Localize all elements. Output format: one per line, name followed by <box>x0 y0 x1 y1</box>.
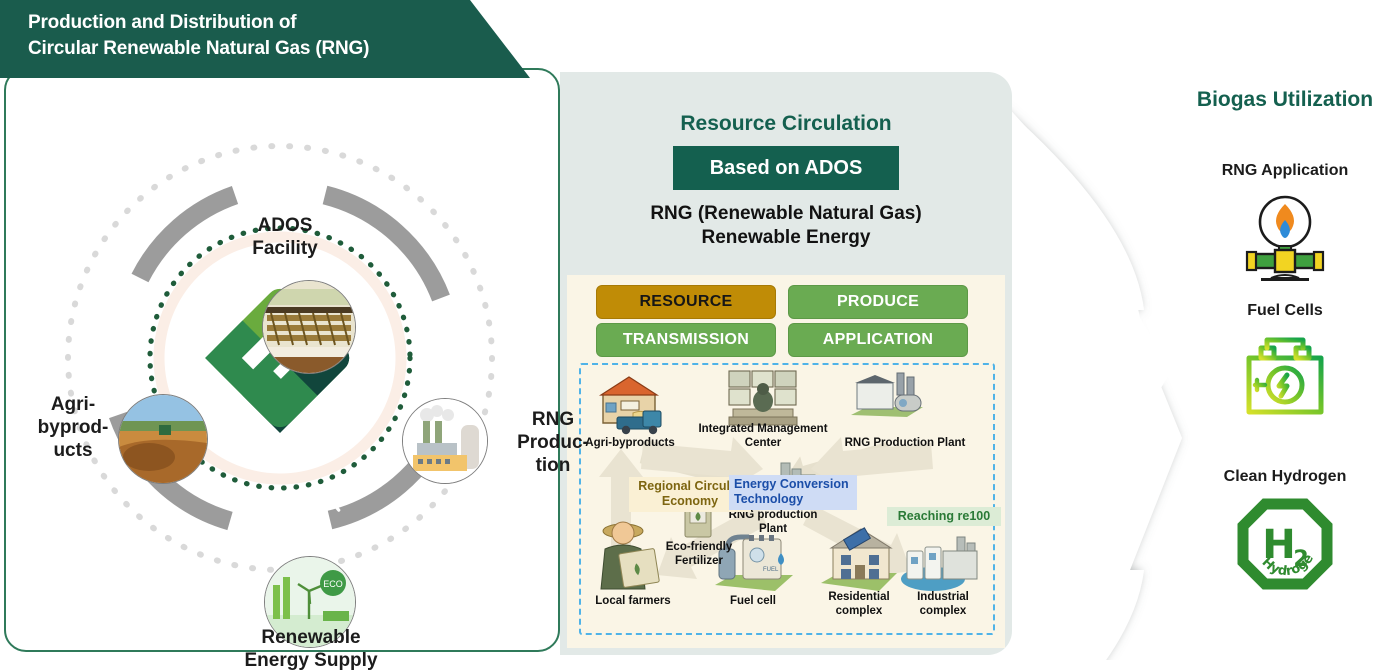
category-produce[interactable]: PRODUCE <box>788 285 968 319</box>
detail-label-rng-production-plant: RNG Production Plant <box>835 437 975 451</box>
svg-text:ECO: ECO <box>323 579 343 589</box>
based-on-ados-badge: Based on ADOS <box>673 146 899 190</box>
house-solar-icon <box>817 521 901 595</box>
rng-plant-factory-icon <box>847 371 927 429</box>
right-item-label-clean-hydrogen: Clean Hydrogen <box>1180 468 1390 486</box>
industry-tanks-icon <box>899 521 985 595</box>
cycle-label-agri: Agri-byprod-ucts <box>30 393 116 463</box>
mid-panel-title: Resource Circulation <box>560 112 1012 136</box>
cycle-node-rng-icon <box>402 398 488 484</box>
biogas-utilization-title: Biogas Utilization <box>1168 88 1400 112</box>
farm-barn-truck-icon <box>591 373 677 435</box>
detail-label-fuel-cell: Fuel cell <box>717 595 789 609</box>
detail-label-eco-fertilizer: Eco-friendlyFertilizer <box>657 541 741 568</box>
biogas-utilization-panel: Biogas Utilization RNG Application Fuel … <box>1180 88 1390 648</box>
svg-text:FUEL: FUEL <box>763 567 779 573</box>
detail-label-industrial-complex: Industrialcomplex <box>901 591 985 618</box>
mid-subtitle-line1: RNG (Renewable Natural Gas) <box>560 202 1012 226</box>
detail-label-local-farmers: Local farmers <box>585 595 681 609</box>
header-banner: Production and Distribution of Circular … <box>0 0 530 78</box>
header-title-line1: Production and Distribution of <box>28 10 468 36</box>
cycle-node-ados-icon <box>262 280 356 374</box>
mid-panel-subtitle: RNG (Renewable Natural Gas) Renewable En… <box>560 202 1012 251</box>
rng-cycle-diagram: ADOSFacility RNGProduc-tion Agri-byprod-… <box>30 108 530 608</box>
cycle-label-ados: ADOSFacility <box>205 214 365 260</box>
control-room-icon <box>725 369 801 427</box>
detail-label-rng-production: RNG productionPlant <box>721 509 825 536</box>
detail-label-management-center: Integrated ManagementCenter <box>689 423 837 450</box>
category-transmission[interactable]: TRANSMISSION <box>596 323 776 357</box>
mid-subtitle-line2: Renewable Energy <box>560 226 1012 250</box>
gas-flame-valve-icon <box>1235 190 1335 286</box>
cycle-label-renewable: RenewableEnergy Supply <box>200 626 422 672</box>
right-item-label-fuel-cells: Fuel Cells <box>1180 302 1390 320</box>
cycle-label-rng: RNGProduc-tion <box>508 408 598 478</box>
value-chain-detail-box: FUEL <box>579 363 995 635</box>
category-application[interactable]: APPLICATION <box>788 323 968 357</box>
tag-energy-conversion-technology: Energy ConversionTechnology <box>729 475 857 510</box>
right-item-label-rng-application: RNG Application <box>1180 162 1390 180</box>
mid-panel-body: RESOURCE PRODUCE TRANSMISSION APPLICATIO… <box>567 275 1005 648</box>
battery-bolt-icon <box>1235 332 1335 428</box>
flow-chevron-arrow <box>1012 70 1192 660</box>
page-title: Production and Distribution of Circular … <box>28 10 468 62</box>
cycle-node-agri-icon <box>118 394 208 484</box>
h2-hydrogen-icon: H 2 Hydrogen <box>1235 496 1335 592</box>
detail-label-residential-complex: Residentialcomplex <box>815 591 903 618</box>
header-title-line2: Circular Renewable Natural Gas (RNG) <box>28 36 468 62</box>
resource-circulation-panel: Resource Circulation Based on ADOS RNG (… <box>560 72 1012 655</box>
category-resource[interactable]: RESOURCE <box>596 285 776 319</box>
tag-reaching-re100: Reaching re100 <box>887 507 1001 526</box>
